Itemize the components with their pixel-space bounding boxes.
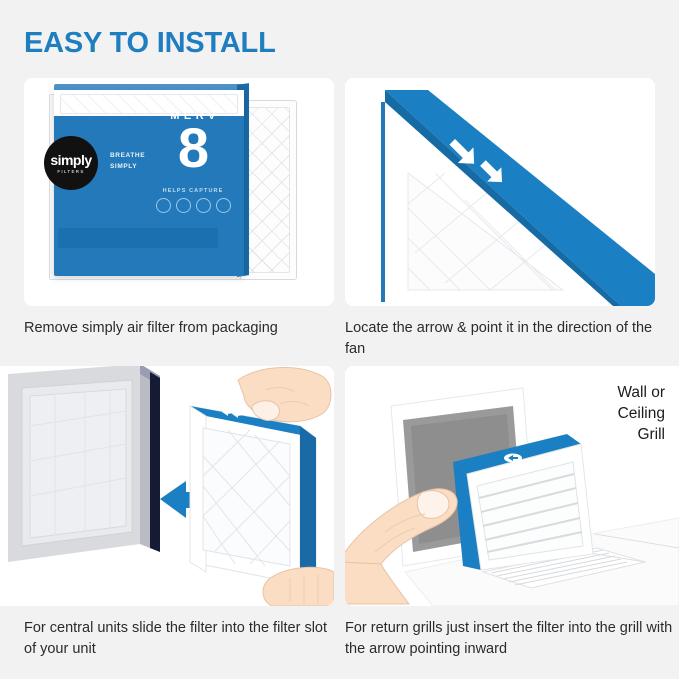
filter-edge-svg — [345, 78, 655, 306]
air-filter-panel — [190, 406, 316, 592]
label-line-2: Ceiling — [617, 403, 665, 424]
hand-top — [238, 367, 331, 421]
step-2: Locate the arrow & point it in the direc… — [345, 78, 655, 373]
product-box-illustration: simply FILTERS BREATHE SIMPLY MERV 8 HEL… — [24, 78, 334, 306]
wall-or-ceiling-grill-label: Wall or Ceiling Grill — [617, 382, 665, 445]
slide-into-slot-illustration — [0, 366, 334, 606]
step-2-image-card — [345, 78, 655, 306]
filter-left-edge — [381, 102, 385, 302]
step-1-image-card: simply FILTERS BREATHE SIMPLY MERV 8 HEL… — [24, 78, 334, 306]
pollen-icon — [156, 198, 171, 213]
page-title: EASY TO INSTALL — [24, 27, 276, 60]
ac-unit-slot — [8, 366, 160, 562]
tagline-line-1: BREATHE — [110, 150, 145, 161]
step-3-caption: For central units slide the filter into … — [0, 606, 334, 659]
capture-icons-row — [144, 198, 242, 213]
tagline-line-2: SIMPLY — [110, 161, 145, 172]
label-line-1: Wall or — [617, 382, 665, 403]
slot-and-filter-svg — [0, 366, 334, 606]
step-4-caption: For return grills just insert the filter… — [345, 606, 679, 659]
box-bottom-bar — [58, 228, 218, 248]
step-3-image-card — [0, 366, 334, 606]
label-line-3: Grill — [617, 424, 665, 445]
lint-icon — [196, 198, 211, 213]
simply-filters-logo: simply FILTERS — [44, 136, 98, 190]
step-4-image-card: Wall or Ceiling Grill — [345, 366, 679, 606]
steps-grid: simply FILTERS BREATHE SIMPLY MERV 8 HEL… — [0, 78, 679, 678]
airflow-arrow-illustration — [345, 78, 655, 306]
step-1-caption: Remove simply air filter from packaging — [24, 306, 334, 339]
logo-subtext: FILTERS — [57, 169, 84, 174]
step-2-caption: Locate the arrow & point it in the direc… — [345, 306, 655, 359]
logo-wordmark: simply — [50, 153, 91, 167]
step-3: For central units slide the filter into … — [0, 366, 334, 666]
mold-icon — [216, 198, 231, 213]
step-1: simply FILTERS BREATHE SIMPLY MERV 8 HEL… — [24, 78, 334, 373]
easy-to-install-infographic: EASY TO INSTALL simply FILTERS — [0, 0, 679, 679]
grill-arrow-marker — [504, 454, 522, 463]
dust-icon — [176, 198, 191, 213]
box-tagline: BREATHE SIMPLY — [110, 150, 145, 172]
ceiling-grill-illustration: Wall or Ceiling Grill — [345, 366, 679, 606]
helps-capture-label: HELPS CAPTURE — [144, 188, 242, 194]
merv-rating-block: MERV 8 — [144, 110, 242, 174]
step-4: Wall or Ceiling Grill For return grills … — [345, 366, 679, 666]
merv-value: 8 — [144, 122, 242, 174]
